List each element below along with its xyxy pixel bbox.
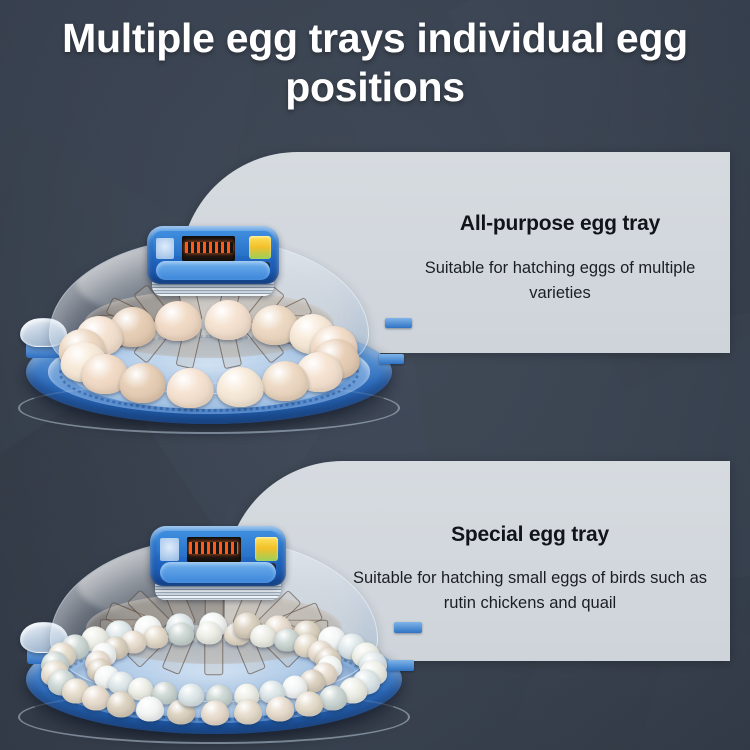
control-unit[interactable] (150, 526, 286, 610)
egg (136, 696, 164, 721)
card-description-all-purpose: Suitable for hatching eggs of multiple v… (390, 256, 730, 306)
control-unit[interactable] (147, 226, 280, 306)
control-unit-lower-shell (160, 562, 277, 583)
control-unit-lower-shell (156, 261, 270, 281)
egg (178, 684, 204, 707)
egg (143, 626, 169, 649)
egg (201, 700, 229, 725)
egg (196, 621, 222, 644)
indicator-icon (249, 236, 272, 259)
infographic-canvas: Multiple egg trays individual egg positi… (0, 0, 750, 750)
page-title: Multiple egg trays individual egg positi… (0, 14, 750, 112)
led-display (187, 537, 241, 562)
egg (205, 300, 252, 340)
egg (319, 685, 347, 710)
egg (166, 368, 213, 408)
egg (295, 692, 323, 717)
egg (107, 692, 135, 717)
egg (251, 624, 277, 647)
egg (217, 367, 264, 407)
info-card-content: All-purpose egg tray Suitable for hatchi… (390, 152, 730, 353)
egg (155, 301, 202, 341)
egg (169, 623, 195, 646)
sensor-icon (156, 238, 175, 260)
led-display (182, 236, 235, 260)
egg (266, 696, 294, 721)
product-image-incubator-all-purpose (14, 230, 404, 430)
control-unit-body[interactable] (147, 226, 280, 284)
indicator-icon (255, 537, 278, 561)
egg (262, 361, 309, 401)
card-title-all-purpose: All-purpose egg tray (390, 212, 730, 236)
egg (82, 686, 110, 711)
control-unit-body[interactable] (150, 526, 286, 586)
egg (234, 699, 262, 724)
sensor-icon (160, 538, 179, 561)
egg (119, 363, 166, 403)
product-image-incubator-special (14, 530, 414, 740)
